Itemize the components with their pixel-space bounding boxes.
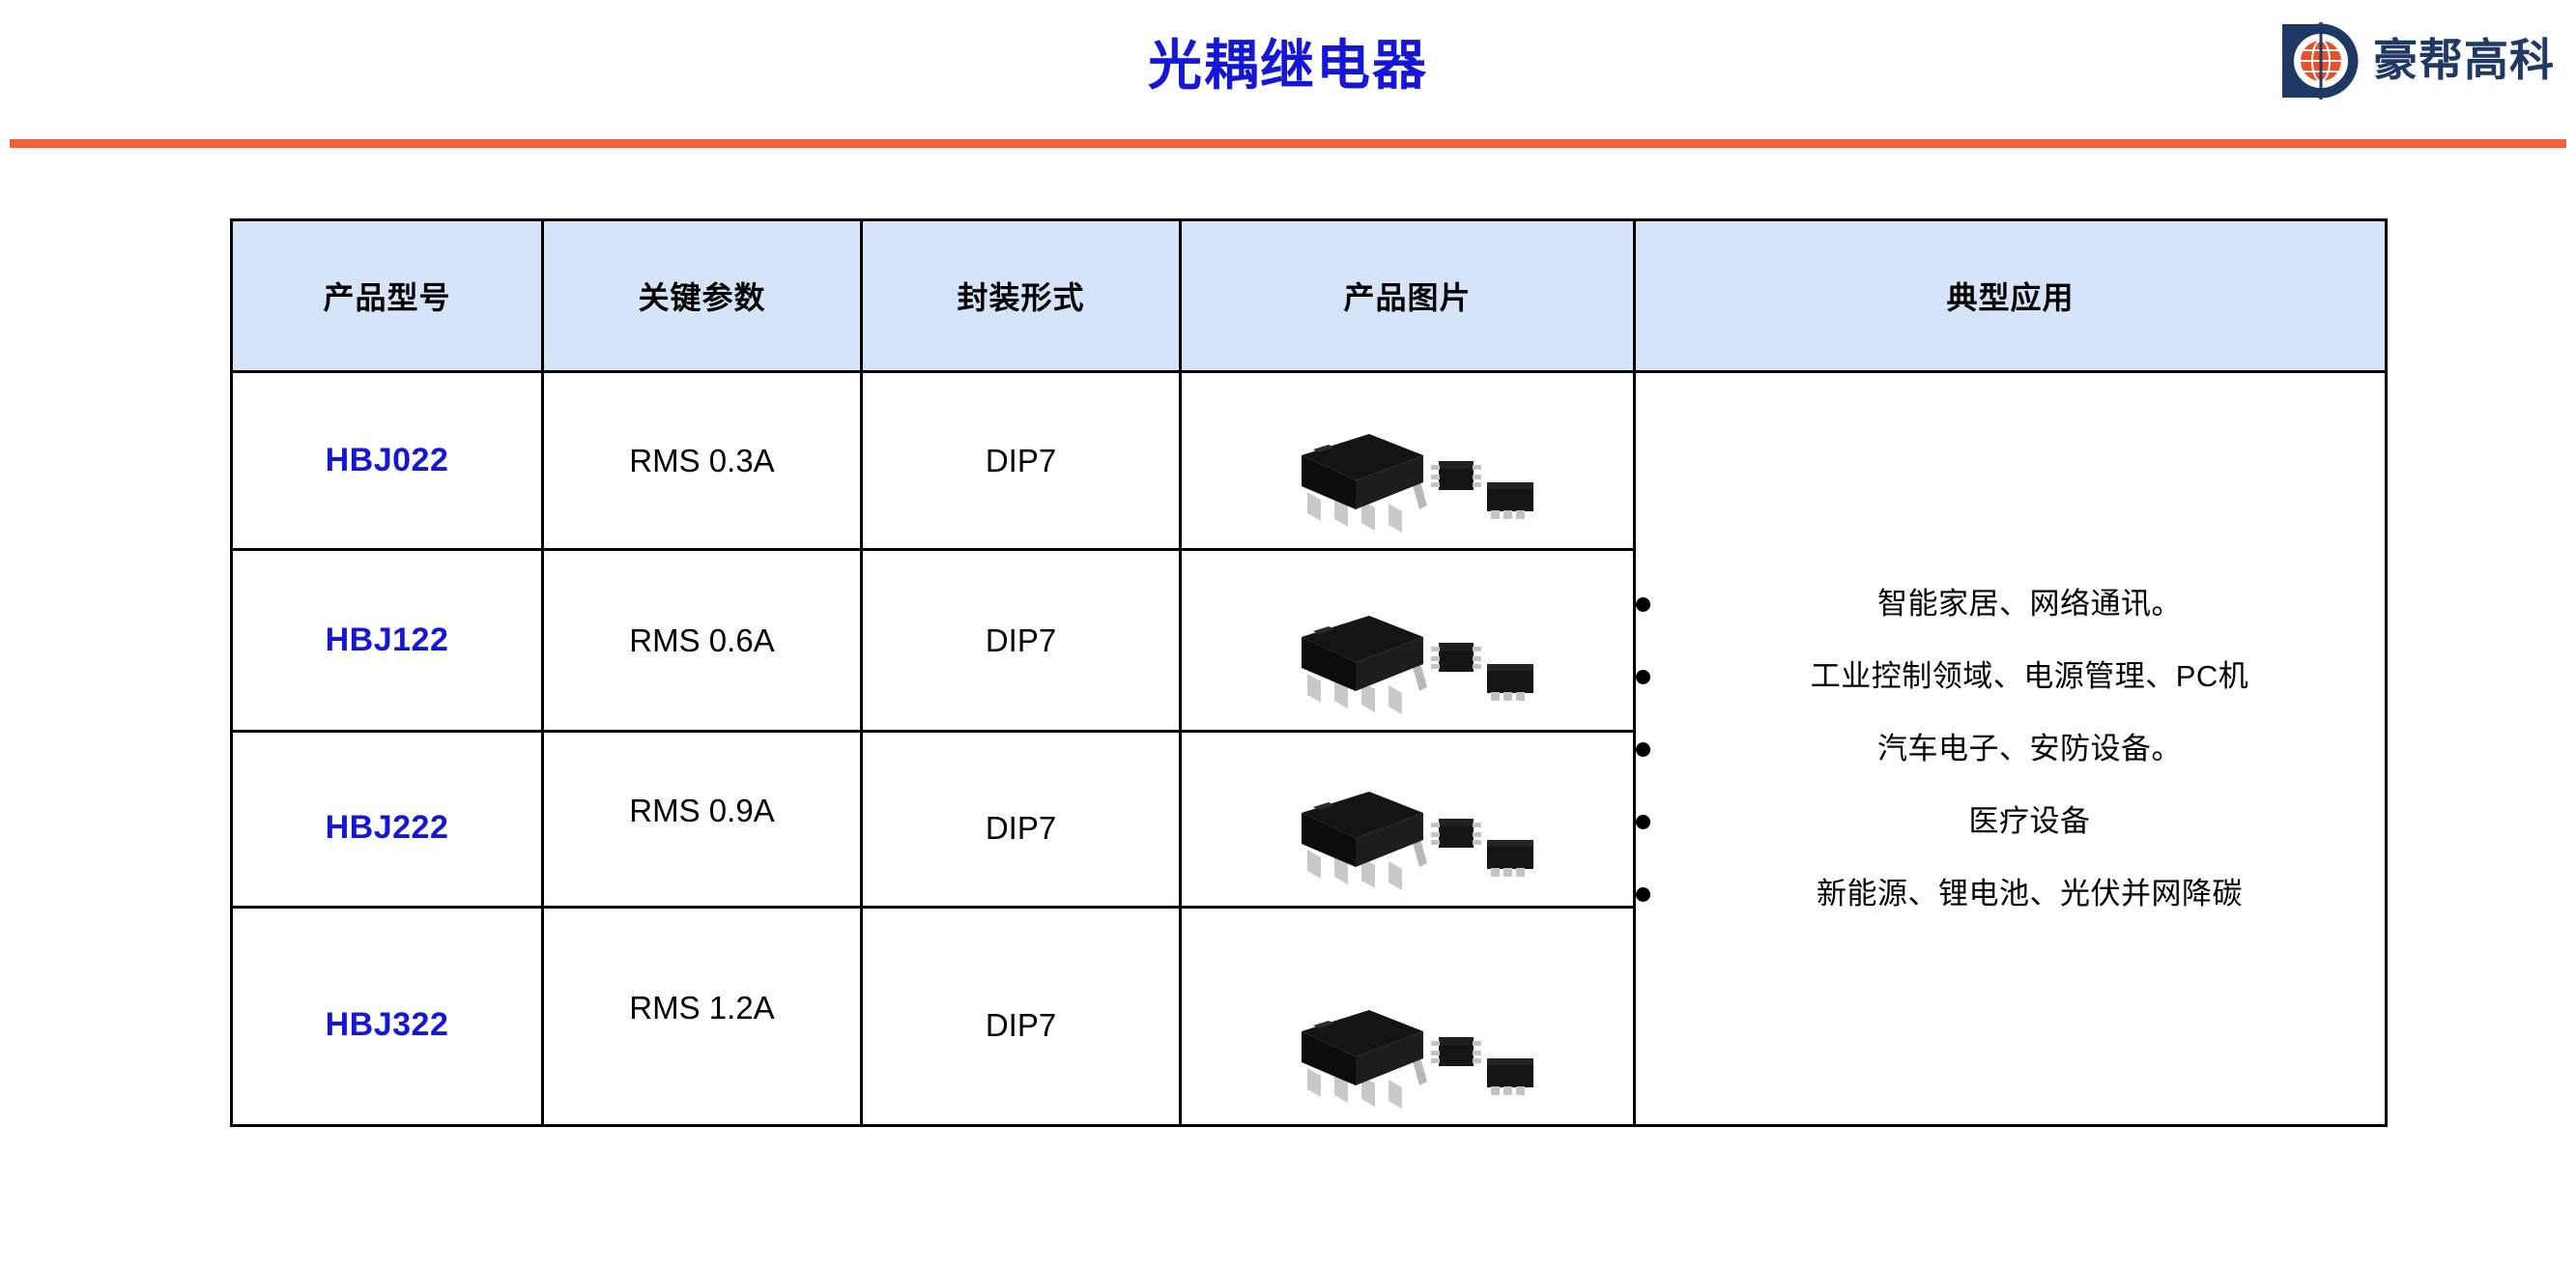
cell-product-image [1181,732,1635,908]
table-header-row: 产品型号 关键参数 封装形式 产品图片 典型应用 [232,220,2387,372]
application-label: 工业控制领域、电源管理、PC机 [1811,659,2249,693]
cell-product-image [1181,908,1635,1126]
cell-param: RMS 1.2A [543,908,862,1126]
package-type-label: DIP7 [986,622,1056,658]
list-item: 新能源、锂电池、光伏并网降碳 [1636,873,2385,915]
bullet-icon [1636,742,1650,757]
cell-package: DIP7 [862,550,1181,732]
bullet-icon [1636,597,1650,612]
application-label: 智能家居、网络通讯。 [1877,587,2182,621]
application-label: 新能源、锂电池、光伏并网降碳 [1817,877,2243,911]
cell-package: DIP7 [862,372,1181,550]
product-model-label: HBJ222 [326,809,449,846]
company-name: 豪帮高科 [2373,35,2555,85]
application-label: 汽车电子、安防设备。 [1877,732,2182,766]
column-header-package: 封装形式 [862,220,1181,372]
key-parameter-label: RMS 1.2A [629,990,774,1026]
application-label: 医疗设备 [1969,804,2091,838]
list-item: 工业控制领域、电源管理、PC机 [1636,655,2385,698]
bullet-icon [1636,887,1650,902]
key-parameter-label: RMS 0.3A [629,443,774,478]
package-type-label: DIP7 [986,443,1056,478]
dip-package-photo [1182,909,1633,1124]
page-title: 光耦继电器 [0,29,2576,102]
column-header-param: 关键参数 [543,220,862,372]
bullet-icon [1636,670,1650,684]
cell-param: RMS 0.6A [543,550,862,732]
cell-product-image [1181,550,1635,732]
column-header-image: 产品图片 [1181,220,1635,372]
column-header-apps: 典型应用 [1635,220,2387,372]
dip-package-photo [1182,733,1633,906]
cell-param: RMS 0.9A [543,732,862,908]
product-model-label: HBJ322 [326,1006,449,1043]
cell-package: DIP7 [862,732,1181,908]
company-logo: 豪帮高科 [2276,14,2555,106]
product-model-label: HBJ022 [326,442,449,478]
cell-model: HBJ122 [232,550,543,732]
cell-product-image [1181,372,1635,550]
list-item: 汽车电子、安防设备。 [1636,728,2385,770]
list-item: 智能家居、网络通讯。 [1636,583,2385,625]
dip-package-photo [1182,551,1633,730]
cell-model: HBJ222 [232,732,543,908]
package-type-label: DIP7 [986,1007,1056,1043]
list-item: 医疗设备 [1636,800,2385,843]
cell-typical-applications: 智能家居、网络通讯。 工业控制领域、电源管理、PC机 汽车电子、安防设备。 医疗… [1635,372,2387,1126]
dip-package-photo [1182,373,1633,548]
package-type-label: DIP7 [986,810,1056,846]
key-parameter-label: RMS 0.9A [629,793,774,828]
key-parameter-label: RMS 0.6A [629,622,774,658]
globe-logo-icon [2276,18,2360,101]
cell-model: HBJ022 [232,372,543,550]
cell-package: DIP7 [862,908,1181,1126]
product-model-label: HBJ122 [326,622,449,658]
product-spec-table: 产品型号 关键参数 封装形式 产品图片 典型应用 HBJ022 RMS 0.3A… [230,218,2388,1127]
applications-list: 智能家居、网络通讯。 工业控制领域、电源管理、PC机 汽车电子、安防设备。 医疗… [1636,583,2385,915]
bullet-icon [1636,815,1650,829]
cell-param: RMS 0.3A [543,372,862,550]
column-header-model: 产品型号 [232,220,543,372]
header-divider-rule [10,139,2566,148]
slide-header: 光耦继电器 豪帮高科 [0,0,2576,147]
cell-model: HBJ322 [232,908,543,1126]
table-row: HBJ022 RMS 0.3A DIP7 [232,372,2387,550]
